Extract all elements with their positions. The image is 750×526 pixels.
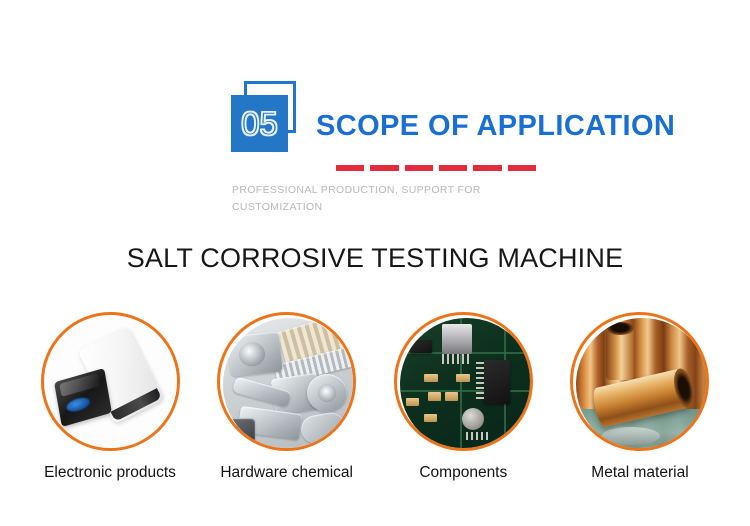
machined-metal-parts-icon [223, 318, 356, 451]
category-card-metal-material: Metal material [560, 312, 720, 502]
pcb-resistor [428, 392, 441, 401]
metal-part-shape [299, 410, 347, 445]
pcb-pins [466, 432, 490, 440]
metal-part-shape [227, 331, 283, 376]
category-list: Electronic products Hardware chemical [30, 312, 720, 502]
divider-dash [508, 165, 536, 171]
copper-tube-shape [606, 328, 634, 380]
category-card-electronic-products: Electronic products [30, 312, 190, 502]
badge-number: 05 [231, 95, 288, 152]
pcb-resistor [406, 398, 419, 406]
category-label: Hardware chemical [220, 464, 353, 482]
metal-part-shape [307, 374, 347, 412]
section-subtitle: PROFESSIONAL PRODUCTION, SUPPORT FOR CUS… [232, 182, 532, 216]
pcb-capacitor [442, 324, 472, 354]
category-image-ring [570, 312, 709, 451]
category-image-ring [394, 312, 533, 451]
pcb-chip [410, 340, 432, 353]
divider-dash [439, 165, 467, 171]
copper-tubes-icon [576, 318, 709, 451]
category-image-ring [217, 312, 356, 451]
category-image-ring [41, 312, 180, 451]
pcb-chip [484, 360, 510, 404]
pcb-resistor [456, 374, 470, 382]
divider-dash [336, 165, 364, 171]
section-title: SCOPE OF APPLICATION [316, 110, 675, 143]
category-label: Electronic products [44, 464, 176, 482]
divider-dash [405, 165, 433, 171]
divider-dash [370, 165, 398, 171]
category-label: Components [419, 464, 507, 482]
category-label: Metal material [591, 464, 688, 482]
dashed-divider [336, 165, 536, 171]
pcb-trace [400, 390, 533, 392]
section-number-badge: 05 [231, 81, 301, 153]
header-block: 05 SCOPE OF APPLICATION PROFESSIONAL PRO… [0, 0, 750, 230]
category-card-hardware-chemical: Hardware chemical [207, 312, 367, 502]
circuit-board-icon [400, 318, 533, 451]
external-hard-drive-icon [47, 318, 180, 451]
pcb-resistor [424, 414, 437, 422]
pcb-resistor [424, 374, 438, 382]
black-hard-drive-shape [54, 368, 112, 427]
divider-dash [473, 165, 501, 171]
category-card-components: Components [383, 312, 543, 502]
page-title: SALT CORROSIVE TESTING MACHINE [0, 243, 750, 274]
pcb-resistor [445, 392, 458, 401]
pcb-pins [442, 354, 472, 364]
pcb-pins [476, 362, 484, 402]
pcb-component [462, 408, 484, 430]
metal-part-shape [225, 418, 255, 448]
